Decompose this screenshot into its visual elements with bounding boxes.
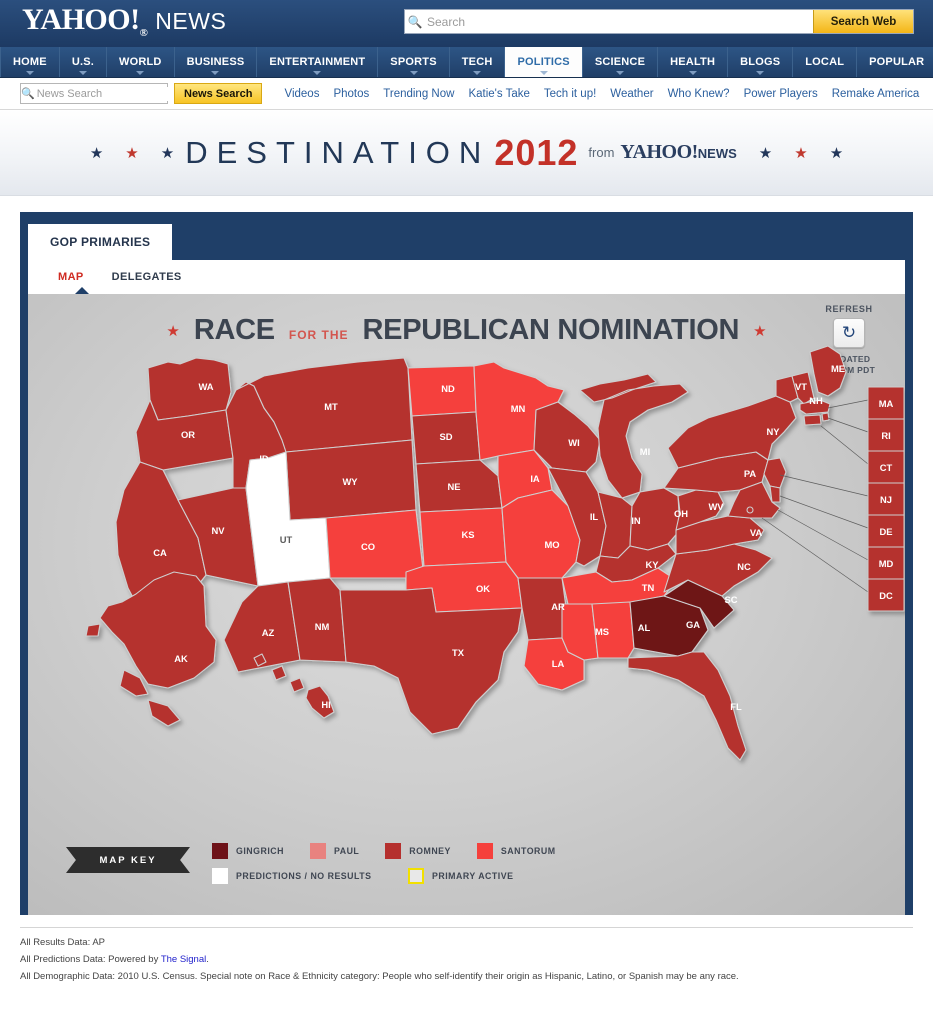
state-label-MT: MT [324,401,338,412]
leader-line-DE [780,496,868,528]
state-label-NH: NH [809,395,823,406]
legend-item-santorum[interactable]: SANTORUM [477,843,556,859]
refresh-label: REFRESH [813,304,885,314]
subnav-link-photos[interactable]: Photos [333,88,369,100]
callout-label-CT: CT [880,462,893,473]
star-icon: ★ [794,144,807,162]
nav-label: SPORTS [390,56,436,68]
footer-line-demographic: All Demographic Data: 2010 U.S. Census. … [20,970,913,984]
star-icon: ★ [830,144,843,162]
state-label-ID: ID [259,453,269,464]
subnav-links: Videos Photos Trending Now Katie's Take … [284,88,919,100]
chevron-down-icon [410,71,418,75]
state-label-OR: OR [181,429,195,440]
star-icon: ★ [161,144,174,162]
legend-swatch-paul [310,843,326,859]
nav-item-blogs[interactable]: BLOGS [728,47,793,77]
banner-year: 2012 [494,132,578,174]
nav-item-home[interactable]: HOME [1,47,60,77]
nav-item-entertainment[interactable]: ENTERTAINMENT [257,47,378,77]
legend-label-primary-active: PRIMARY ACTIVE [432,871,513,881]
state-label-NE: NE [447,481,460,492]
callout-label-MD: MD [879,558,894,569]
callout-label-RI: RI [881,430,890,441]
footer-line-results: All Results Data: AP [20,936,913,950]
chevron-down-icon [26,71,34,75]
banner-title: DESTINATION [185,135,490,171]
legend-label-predictions: PREDICTIONS / NO RESULTS [236,871,372,881]
leader-line-RI [828,418,868,432]
chevron-down-icon [79,71,87,75]
state-label-KS: KS [461,529,474,540]
legend-row-status: PREDICTIONS / NO RESULTS PRIMARY ACTIVE [212,868,582,884]
subnav-link-power-players[interactable]: Power Players [744,88,818,100]
nav-label: HEALTH [670,56,715,68]
state-label-CA: CA [153,547,167,558]
callout-label-NJ: NJ [880,494,892,505]
state-label-OK: OK [476,583,490,594]
state-label-HI: HI [321,699,330,710]
legend-item-primary-active[interactable]: PRIMARY ACTIVE [408,868,513,884]
nav-label: ENTERTAINMENT [269,56,365,68]
state-label-VA: VA [750,527,763,538]
nav-item-sports[interactable]: SPORTS [378,47,449,77]
state-label-ME: ME [831,363,845,374]
nav-label: WORLD [119,56,162,68]
nav-label: U.S. [72,56,94,68]
footer-predictions-suffix: . [206,954,209,965]
state-label-IN: IN [631,515,641,526]
nav-label: BUSINESS [187,56,245,68]
state-label-KY: KY [645,559,659,570]
map-key-label: MAP KEY [66,847,190,873]
legend-item-paul[interactable]: PAUL [310,843,359,859]
state-label-IA: IA [530,473,540,484]
star-icon: ★ [166,322,179,340]
state-label-WA: WA [198,381,213,392]
legend-item-gingrich[interactable]: GINGRICH [212,843,284,859]
nav-label: BLOGS [740,56,780,68]
nav-label: SCIENCE [595,56,645,68]
state-RI[interactable] [822,413,829,421]
state-CT[interactable] [804,415,821,425]
module-wrapper: GOP PRIMARIES MAP DELEGATES ★ RACE FOR T… [0,196,933,915]
nav-item-us[interactable]: U.S. [60,47,107,77]
legend-label-paul: PAUL [334,846,359,856]
yahoo-wordmark: YAHOO! [22,3,140,36]
yahoo-news-logo[interactable]: YAHOO!®NEWS [22,3,226,39]
nav-item-world[interactable]: WORLD [107,47,175,77]
state-label-AK: AK [174,653,188,664]
state-label-MI: MI [640,446,650,457]
nav-label: POPULAR [869,56,924,68]
module-subtab-row: MAP DELEGATES [28,260,905,294]
state-label-LA: LA [552,658,565,669]
chevron-down-icon [616,71,624,75]
state-label-IL: IL [590,511,599,522]
nav-item-business[interactable]: BUSINESS [175,47,258,77]
tab-gop-primaries[interactable]: GOP PRIMARIES [28,224,172,260]
legend-swatch-romney [385,843,401,859]
state-DC[interactable] [747,507,753,513]
map-panel: ★ RACE FOR THE REPUBLICAN NOMINATION ★ R… [28,294,905,915]
state-label-UT: UT [280,534,293,545]
secondary-nav: 🔍 News Search Videos Photos Trending Now… [0,78,933,110]
banner-yahoo-wordmark: YAHOO! [620,141,697,163]
news-search-input[interactable] [35,87,181,101]
state-label-WV: WV [708,501,724,512]
state-label-FL: FL [730,701,742,712]
state-label-OH: OH [674,508,688,519]
callout-label-DC: DC [879,590,893,601]
star-icon: ★ [125,144,138,162]
chevron-down-icon [540,71,548,75]
leader-line-MA [828,400,868,408]
news-wordmark: NEWS [155,8,226,34]
star-icon: ★ [753,322,766,340]
footer-line-predictions: All Predictions Data: Powered by The Sig… [20,953,913,967]
registered-mark: ® [140,27,148,39]
search-icon: 🔍 [405,10,425,33]
leader-line-DC [762,518,868,592]
subnav-link-videos[interactable]: Videos [284,88,319,100]
legend-row-candidates: GINGRICH PAUL ROMNEY SANTORUM [212,843,582,859]
search-icon: 🔍 [21,87,35,100]
state-label-ND: ND [441,383,455,394]
star-icon: ★ [759,144,772,162]
callout-label-MA: MA [879,398,894,409]
state-label-CO: CO [361,541,375,552]
state-label-TN: TN [642,582,655,593]
state-label-WI: WI [568,437,579,448]
state-DE[interactable] [770,486,780,502]
state-label-NY: NY [766,426,780,437]
state-label-TX: TX [452,647,465,658]
map-legend: MAP KEY GINGRICH PAUL ROMNEY [66,843,867,893]
state-label-SD: SD [439,431,452,442]
gop-primaries-module: GOP PRIMARIES MAP DELEGATES ★ RACE FOR T… [20,212,913,915]
footer-predictions-prefix: All Predictions Data: Powered by [20,954,161,965]
legend-label-gingrich: GINGRICH [236,846,284,856]
yahoo-header: YAHOO!®NEWS 🔍 Search Web [0,0,933,47]
chevron-down-icon [313,71,321,75]
nav-item-health[interactable]: HEALTH [658,47,728,77]
state-TX[interactable] [340,588,522,734]
news-search-bar[interactable]: 🔍 [20,83,168,104]
nav-item-local[interactable]: LOCAL [793,47,857,77]
banner-news-wordmark: NEWS [698,146,737,161]
chevron-down-icon [473,71,481,75]
state-label-NV: NV [211,525,225,536]
state-label-SC: SC [724,594,737,605]
primary-nav: HOME U.S. WORLD BUSINESS ENTERTAINMENT S… [0,47,933,78]
news-search-button[interactable]: News Search [174,83,262,104]
banner-yahoo-news-logo: YAHOO!NEWS [620,141,736,164]
state-label-NC: NC [737,561,751,572]
state-label-WY: WY [342,476,358,487]
nav-item-science[interactable]: SCIENCE [583,47,658,77]
legend-label-romney: ROMNEY [409,846,451,856]
state-WI[interactable] [534,402,600,472]
nav-label: POLITICS [517,56,569,68]
subnav-link-who-knew[interactable]: Who Knew? [668,88,730,100]
subnav-link-remake-america[interactable]: Remake America [832,88,920,100]
nav-label: LOCAL [805,56,844,68]
nav-label: HOME [13,56,47,68]
legend-swatch-primary-active [408,868,424,884]
state-label-AR: AR [551,601,565,612]
chevron-down-icon [136,71,144,75]
state-label-VT: VT [795,381,807,392]
state-label-AL: AL [638,622,651,633]
state-label-MS: MS [595,626,609,637]
the-signal-link[interactable]: The Signal [161,954,206,965]
module-tab-row: GOP PRIMARIES [28,220,905,260]
state-label-GA: GA [686,619,700,630]
leader-line-MD [778,510,868,560]
legend-item-predictions[interactable]: PREDICTIONS / NO RESULTS [212,868,382,884]
state-FL[interactable] [628,652,746,760]
footer-divider [20,927,913,928]
chevron-down-icon [211,71,219,75]
state-label-AZ: AZ [262,627,275,638]
nav-item-popular[interactable]: POPULAR [857,47,933,77]
legend-label-santorum: SANTORUM [501,846,556,856]
global-search-bar[interactable]: 🔍 Search Web [404,9,914,34]
leader-line-NJ [780,475,868,496]
subnav-link-tech-it-up[interactable]: Tech it up! [544,88,596,100]
state-label-PA: PA [744,468,757,479]
banner-from-label: from [588,145,614,160]
subtab-map[interactable]: MAP [58,271,84,283]
subnav-link-weather[interactable]: Weather [610,88,653,100]
star-icon: ★ [90,144,103,162]
footer: All Results Data: AP All Predictions Dat… [0,915,933,983]
callout-label-DE: DE [879,526,892,537]
nav-item-politics[interactable]: POLITICS [505,47,582,77]
search-input[interactable] [425,10,813,33]
subnav-link-katies-take[interactable]: Katie's Take [468,88,529,100]
legend-items: GINGRICH PAUL ROMNEY SANTORUM [212,843,582,893]
us-primary-results-map[interactable]: WA OR CA NV ID MT WY UT CO AZ NM ND SD N… [28,340,905,810]
subtab-delegates[interactable]: DELEGATES [112,271,182,283]
state-AK[interactable] [86,572,216,726]
state-NJ[interactable] [764,458,786,488]
legend-swatch-santorum [477,843,493,859]
leader-line-CT [821,426,868,464]
destination-2012-banner: ★ ★ ★ DESTINATION 2012 from YAHOO!NEWS ★… [0,110,933,196]
chevron-down-icon [756,71,764,75]
legend-swatch-predictions [212,868,228,884]
state-label-MN: MN [511,403,526,414]
legend-item-romney[interactable]: ROMNEY [385,843,451,859]
legend-swatch-gingrich [212,843,228,859]
state-label-NM: NM [315,621,330,632]
nav-label: TECH [462,56,493,68]
state-label-MO: MO [544,539,559,550]
search-web-button[interactable]: Search Web [813,10,913,33]
subnav-link-trending-now[interactable]: Trending Now [383,88,454,100]
chevron-down-icon [689,71,697,75]
nav-item-tech[interactable]: TECH [450,47,506,77]
